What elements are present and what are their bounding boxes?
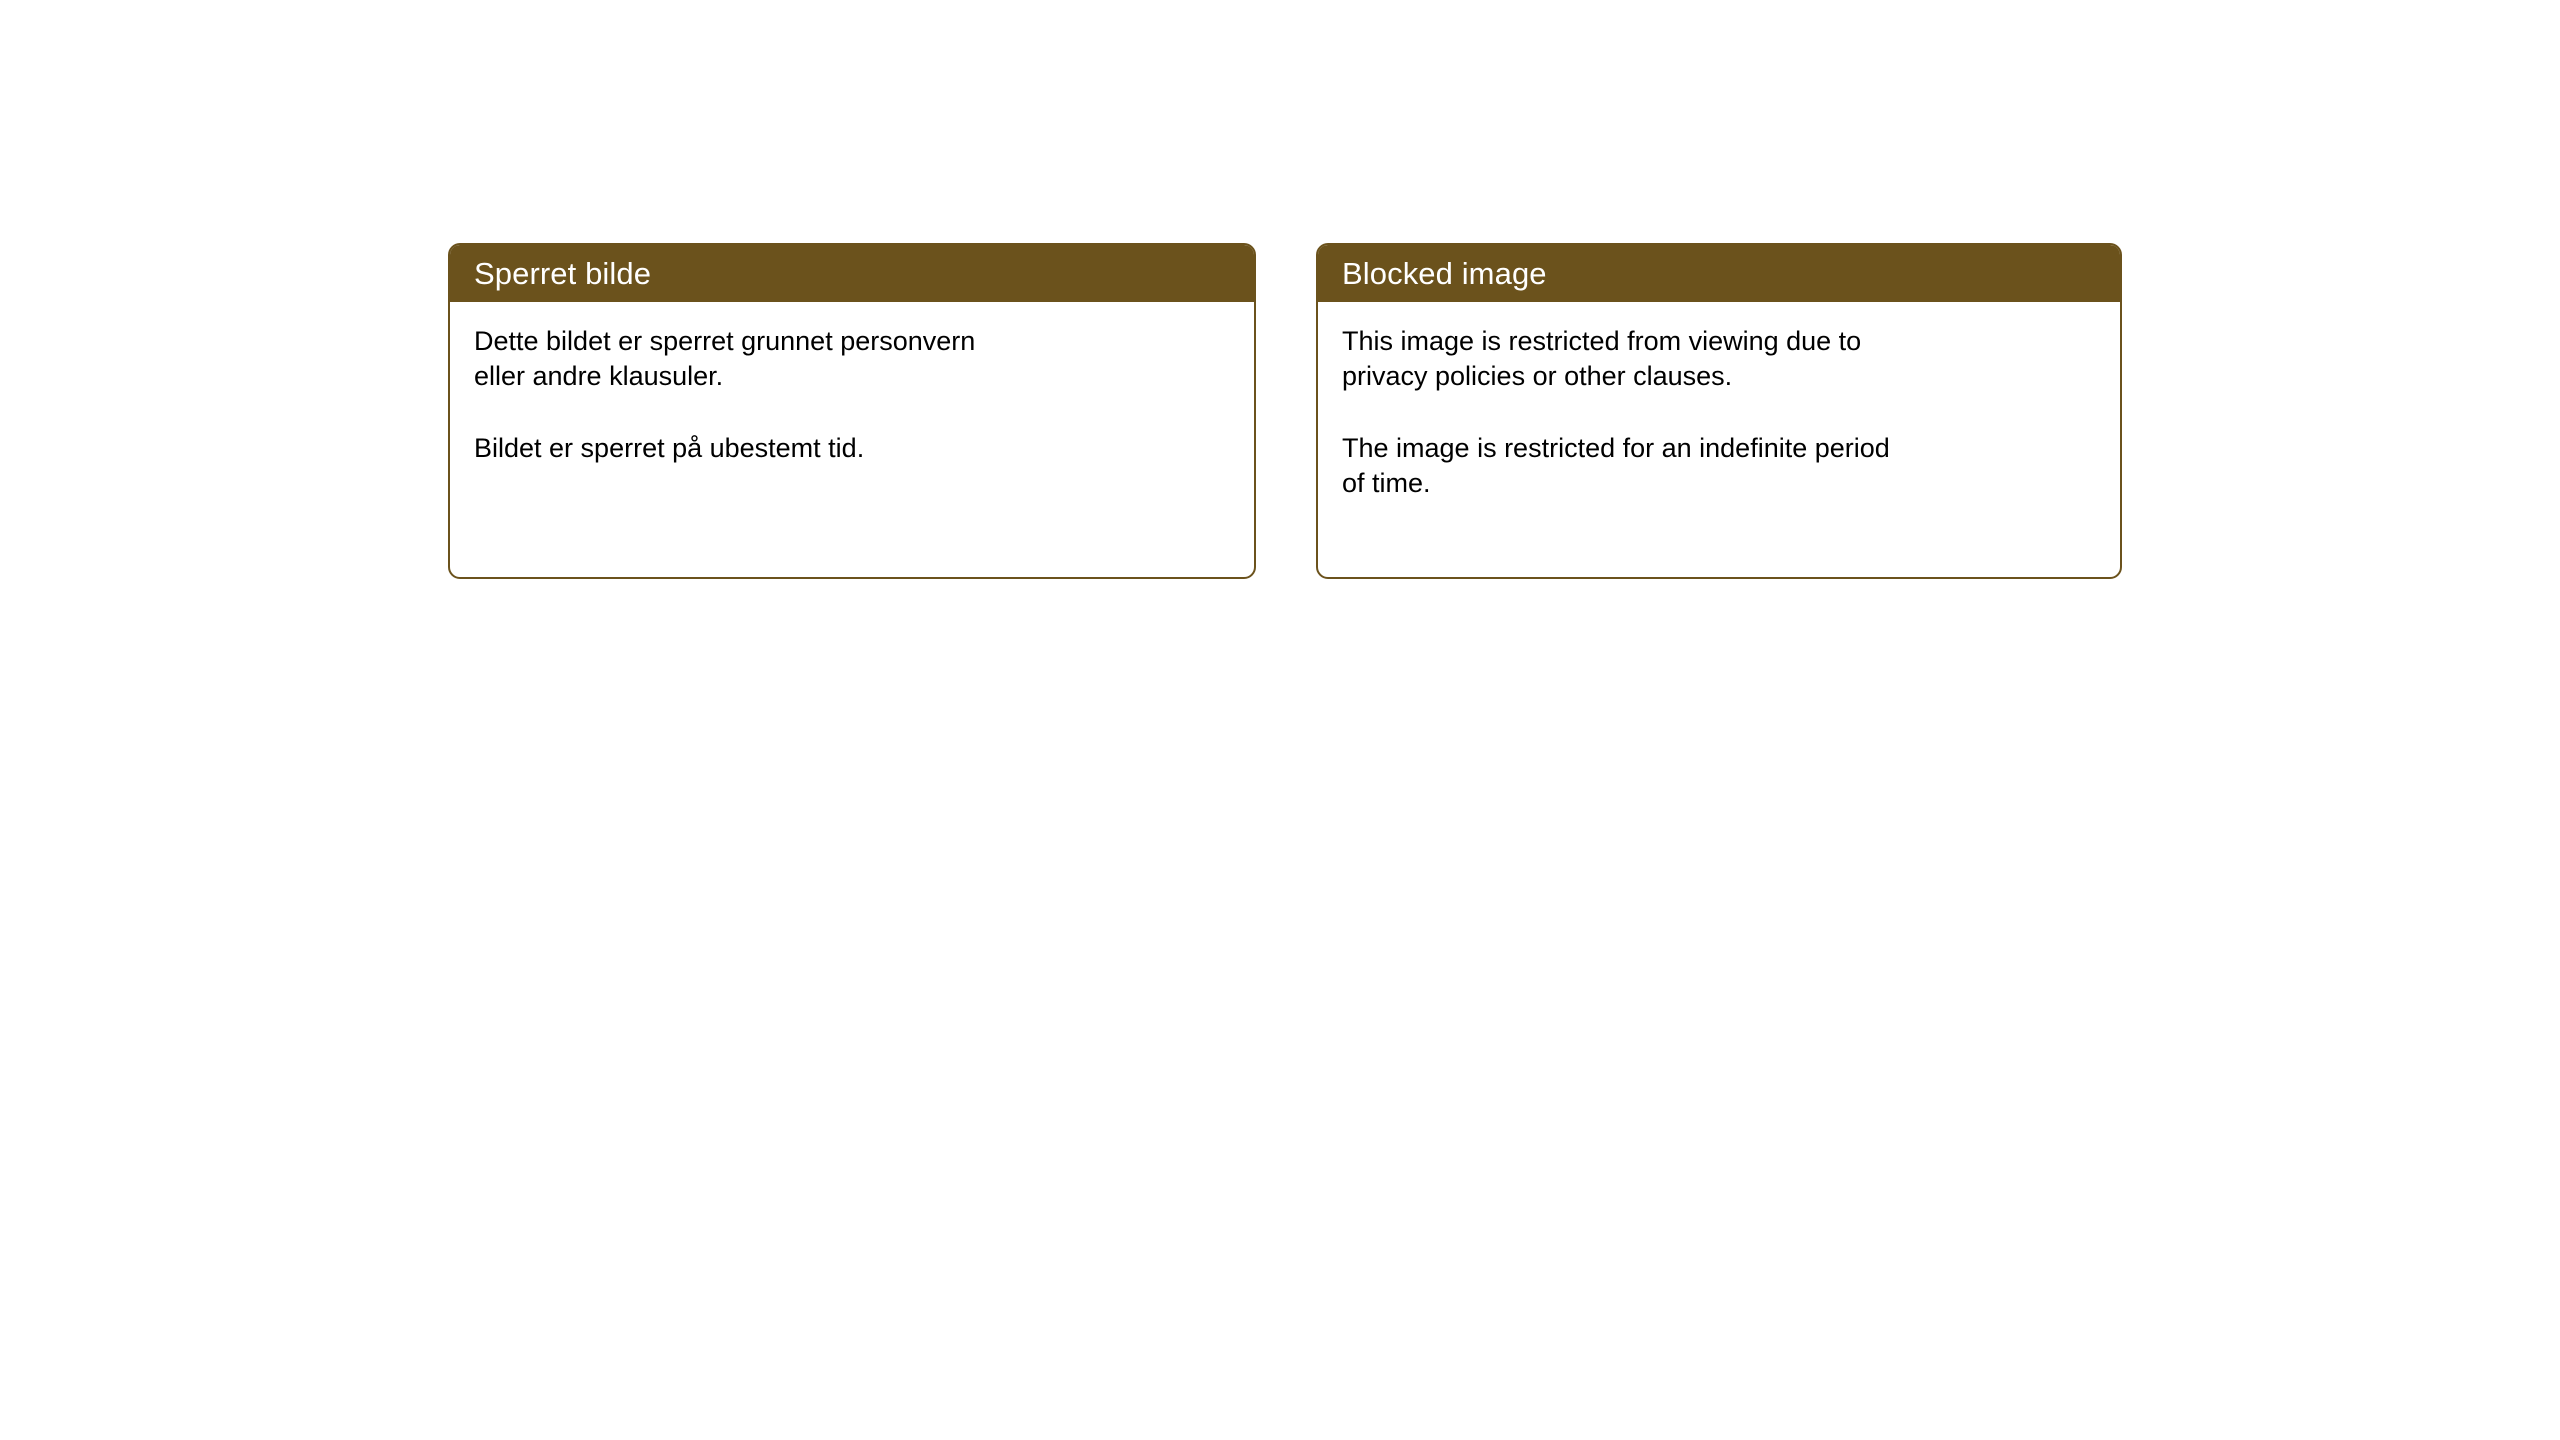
card-paragraph-primary-english: This image is restricted from viewing du…	[1342, 324, 2094, 394]
card-body-english: This image is restricted from viewing du…	[1318, 302, 2120, 501]
card-paragraph-secondary-english: The image is restricted for an indefinit…	[1342, 431, 2094, 501]
card-header-norwegian: Sperret bilde	[450, 245, 1254, 302]
blocked-image-notice-english: Blocked image This image is restricted f…	[1316, 243, 2122, 579]
card-paragraph-secondary-norwegian: Bildet er sperret på ubestemt tid.	[474, 431, 1228, 466]
card-paragraph-primary-norwegian: Dette bildet er sperret grunnet personve…	[474, 324, 1228, 394]
card-title-norwegian: Sperret bilde	[474, 258, 651, 289]
card-body-norwegian: Dette bildet er sperret grunnet personve…	[450, 302, 1254, 466]
card-header-english: Blocked image	[1318, 245, 2120, 302]
card-title-english: Blocked image	[1342, 258, 1547, 289]
page-canvas: Sperret bilde Dette bildet er sperret gr…	[0, 0, 2560, 1440]
blocked-image-notice-norwegian: Sperret bilde Dette bildet er sperret gr…	[448, 243, 1256, 579]
